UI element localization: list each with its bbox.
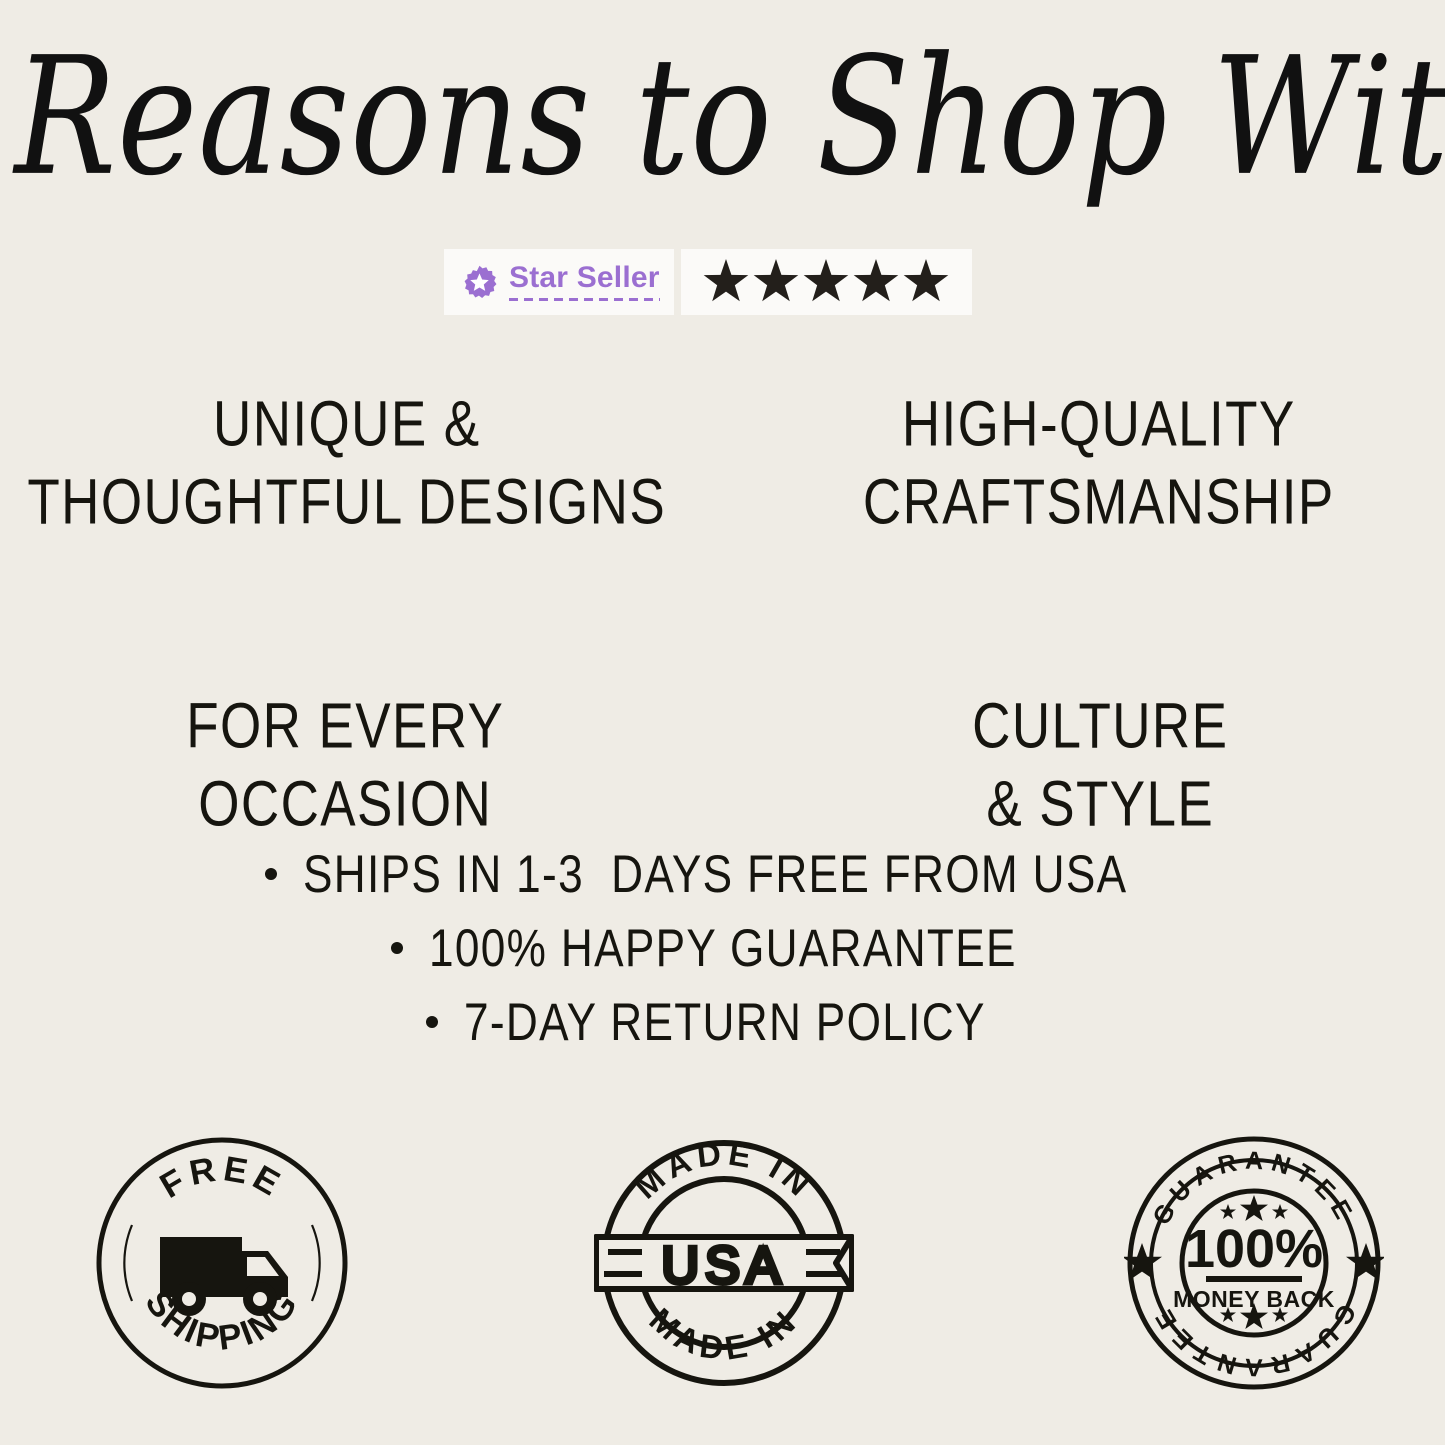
svg-text:FREE: FREE [153,1149,290,1206]
feature-unique-designs: UNIQUE & THOUGHTFUL DESIGNS [0,385,734,541]
star-seller-text-block: Star Seller [509,263,660,301]
svg-text:MADE IN: MADE IN [643,1301,806,1367]
promo-graphic: Reasons to Shop With Us Star Seller [0,0,1445,1445]
made-in-usa-badge: MADE IN MADE IN USA [594,1133,854,1393]
list-item-label: 7-DAY RETURN POLICY [464,990,986,1055]
feature-culture-style: CULTURE & STYLE [731,687,1445,843]
feature-line-1: UNIQUE & [24,380,669,467]
feature-grid: UNIQUE & THOUGHTFUL DESIGNS HIGH-QUALITY… [0,385,1445,843]
trust-badges-row: FREE SHIPPING [0,1133,1445,1395]
star-seller-label-panel: Star Seller [444,249,674,315]
star-seller-badge: Star Seller [444,249,972,315]
feature-line-2: CRAFTSMANSHIP [776,458,1421,545]
feature-line-1: CULTURE [779,682,1421,769]
delivery-truck-icon [160,1237,288,1316]
list-item-label: SHIPS IN 1-3 DAYS FREE FROM USA [303,842,1127,907]
star-seller-divider [674,249,681,315]
star-icon [853,259,899,305]
bullet-dot-icon [426,1016,438,1028]
svg-text:MADE IN: MADE IN [627,1134,821,1206]
feature-line-2: & STYLE [779,760,1421,847]
feature-line-1: HIGH-QUALITY [776,380,1421,467]
star-icon [703,259,749,305]
feature-high-quality: HIGH-QUALITY CRAFTSMANSHIP [734,385,1445,541]
benefits-list: SHIPS IN 1-3 DAYS FREE FROM USA 100% HAP… [0,845,1445,1067]
star-icon [803,259,849,305]
page-title-wrap: Reasons to Shop With Us [0,36,1445,174]
feature-line-1: FOR EVERY [24,682,666,769]
star-rosette-icon [462,265,497,300]
percent-label: 100% [1185,1219,1323,1279]
ribbon-label: USA [662,1237,787,1295]
star-seller-label: Star Seller [509,263,660,293]
feature-row-2: FOR EVERY OCCASION CULTURE & STYLE [0,687,1445,843]
divider-rule [1206,1276,1302,1282]
badge-top-text: GUARANTEE [1147,1147,1360,1230]
list-item: SHIPS IN 1-3 DAYS FREE FROM USA [265,845,1180,903]
bullet-dot-icon [391,942,403,954]
money-back-label: MONEY BACK [1173,1286,1335,1312]
page-title: Reasons to Shop With Us [14,36,1430,199]
top-stars-icon [1220,1195,1288,1221]
list-item-label: 100% HAPPY GUARANTEE [429,916,1017,981]
star-icon [903,259,949,305]
badge-top-text: FREE [153,1149,290,1206]
star-icon [753,259,799,305]
feature-line-2: OCCASION [24,760,666,847]
badge-bottom-text: MADE IN [643,1301,806,1367]
money-back-guarantee-badge: GUARANTEE GUARANTEE [1124,1133,1384,1393]
svg-text:GUARANTEE: GUARANTEE [1147,1147,1360,1230]
feature-line-2: THOUGHTFUL DESIGNS [24,458,669,545]
list-item: 7-DAY RETURN POLICY [426,993,1019,1051]
star-seller-dashed-underline [509,298,660,301]
feature-every-occasion: FOR EVERY OCCASION [0,687,731,843]
star-rating [681,249,972,315]
free-shipping-badge: FREE SHIPPING [92,1133,352,1393]
list-item: 100% HAPPY GUARANTEE [391,919,1054,977]
feature-row-1: UNIQUE & THOUGHTFUL DESIGNS HIGH-QUALITY… [0,385,1445,541]
badge-top-text: MADE IN [627,1134,821,1206]
bullet-dot-icon [265,868,277,880]
